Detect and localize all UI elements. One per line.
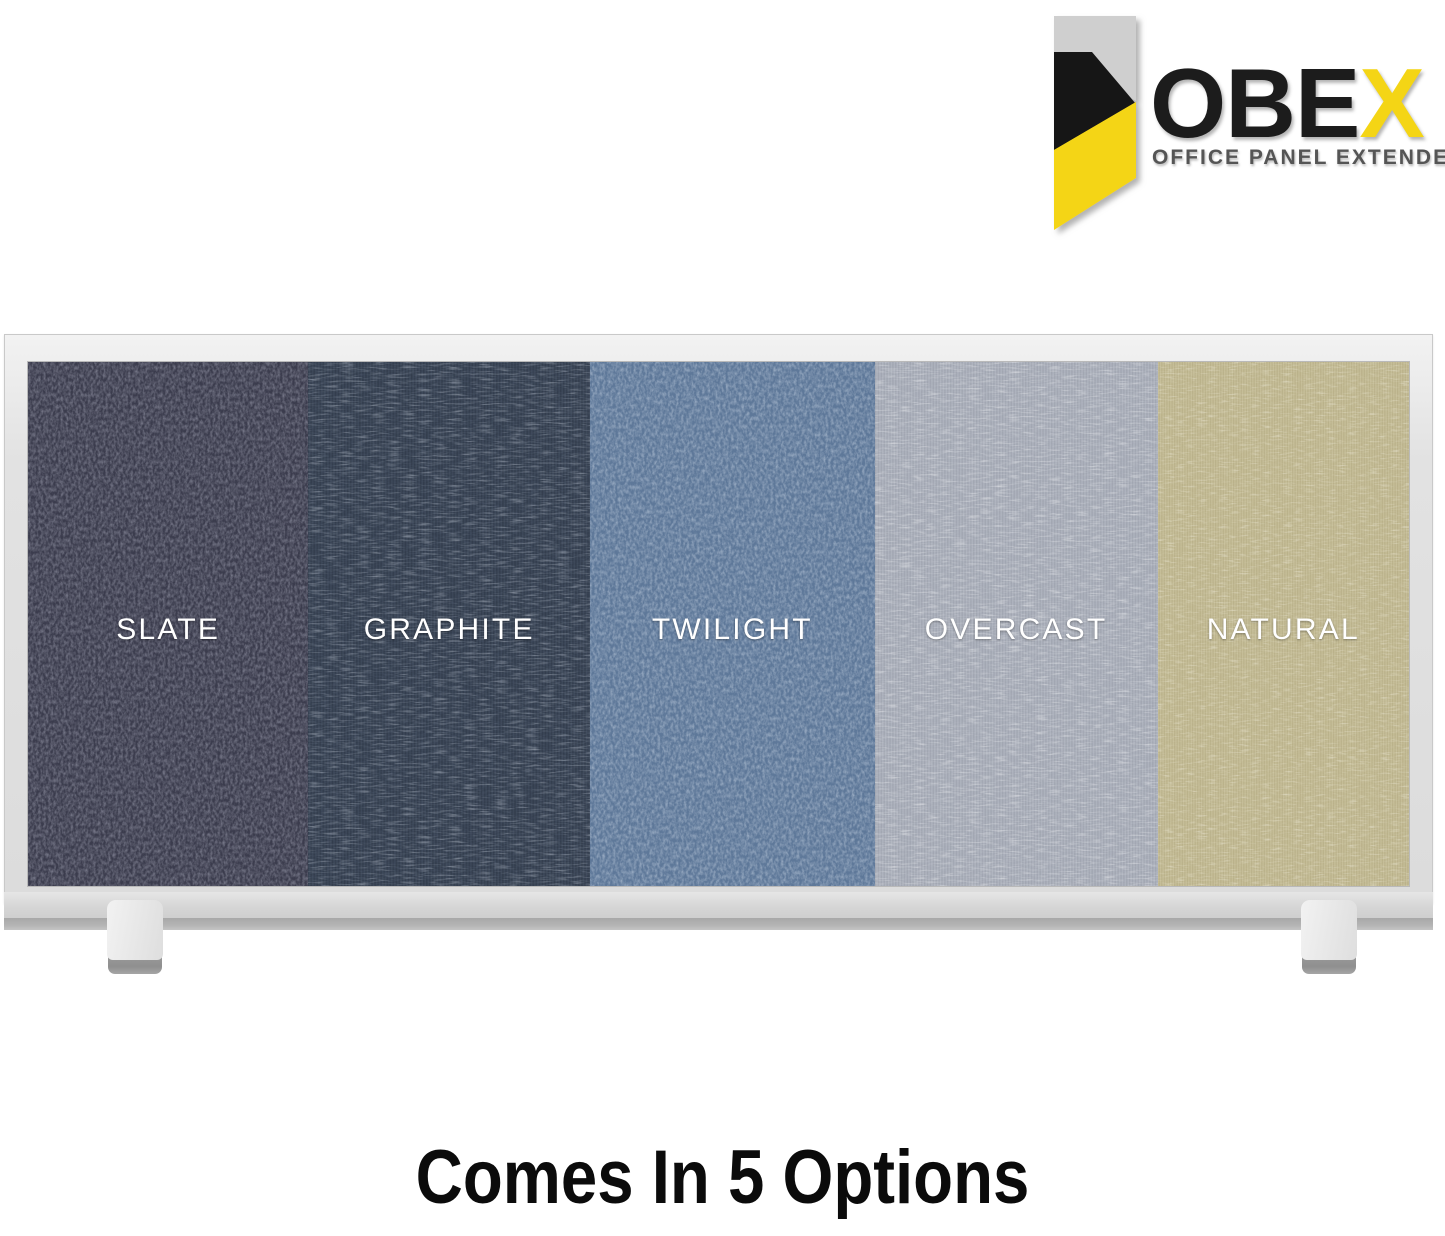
panel-mounting-bracket-right: [1301, 900, 1357, 974]
panel-bottom-rail-shadow: [4, 918, 1433, 930]
caption-comes-in-5-options: Comes In 5 Options: [101, 1140, 1344, 1216]
logo-tagline: OFFICE PANEL EXTENDERS: [1152, 146, 1445, 170]
swatch-slate[interactable]: SLATE: [28, 362, 308, 886]
product-image-canvas: OBEX OFFICE PANEL EXTENDERS: [0, 0, 1445, 1236]
swatch-label-graphite: GRAPHITE: [364, 613, 535, 647]
obex-logo: OBEX OFFICE PANEL EXTENDERS: [1032, 6, 1432, 241]
bracket-body-right: [1301, 900, 1357, 960]
brand-x-text: X: [1359, 48, 1423, 158]
obex-wordmark: OBEX OFFICE PANEL EXTENDERS: [1150, 54, 1436, 184]
swatch-label-slate: SLATE: [116, 613, 220, 647]
swatch-label-overcast: OVERCAST: [925, 613, 1108, 647]
swatch-graphite[interactable]: GRAPHITE: [308, 362, 590, 886]
swatch-natural[interactable]: NATURAL: [1158, 362, 1409, 886]
obex-brand-text: OBEX: [1150, 54, 1424, 152]
swatch-label-twilight: TWILIGHT: [652, 613, 813, 647]
panel-frame: SLATE: [4, 334, 1433, 904]
brand-obe-text: OBE: [1150, 48, 1359, 158]
fabric-swatch-strip: SLATE: [27, 361, 1410, 887]
obex-logo-mark-icon: [1032, 6, 1152, 241]
swatch-overcast[interactable]: OVERCAST: [875, 362, 1158, 886]
bracket-body-left: [107, 900, 163, 960]
swatch-twilight[interactable]: TWILIGHT: [590, 362, 874, 886]
panel-bottom-rail: [4, 892, 1433, 918]
panel-mounting-bracket-left: [107, 900, 163, 974]
desk-privacy-panel: SLATE: [4, 334, 1433, 930]
swatch-label-natural: NATURAL: [1207, 613, 1360, 647]
